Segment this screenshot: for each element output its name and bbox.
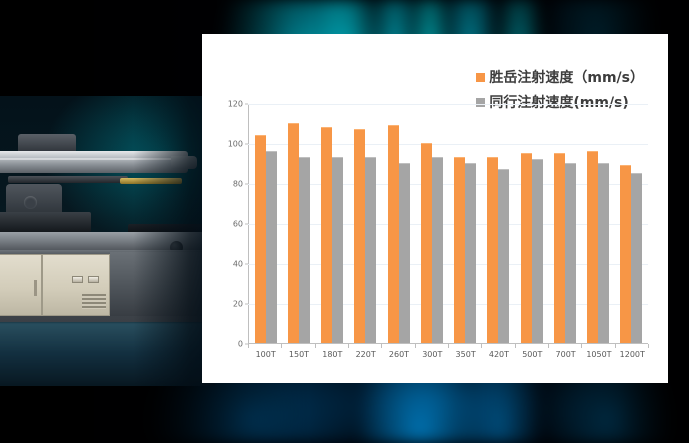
photo-edge-fade [0,96,215,386]
bar-series-1-100T[interactable] [255,135,266,343]
x-tick-mark [415,344,416,348]
legend-item-series-1[interactable]: 胜岳注射速度（mm/s） [476,67,644,87]
bar-series-2-1050T[interactable] [598,163,609,343]
bar-series-1-350T[interactable] [454,157,465,343]
bar-series-2-420T[interactable] [498,169,509,343]
plot-area: 020406080100120 [248,104,648,344]
bar-group [548,104,581,343]
bar-groups [249,104,648,343]
bar-series-2-500T[interactable] [532,159,543,343]
y-tick-label-120: 120 [228,100,243,109]
bar-series-1-1200T[interactable] [620,165,631,343]
x-tick-mark [348,344,349,348]
y-tick-mark-40 [245,264,248,265]
y-tick-label-20: 20 [233,300,243,309]
x-tick-mark [581,344,582,348]
x-tick-mark [315,344,316,348]
bar-series-2-700T[interactable] [565,163,576,343]
x-tick-mark [448,344,449,348]
y-tick-mark-80 [245,184,248,185]
x-axis-label-150T: 150T [282,350,315,359]
bar-series-1-180T[interactable] [321,127,332,343]
bar-group [282,104,315,343]
y-tick-mark-100 [245,144,248,145]
x-axis-label-1050T: 1050T [582,350,615,359]
x-axis-label-500T: 500T [516,350,549,359]
y-tick-label-40: 40 [233,260,243,269]
bar-series-1-700T[interactable] [554,153,565,343]
bar-series-1-150T[interactable] [288,123,299,343]
x-axis-label-100T: 100T [249,350,282,359]
bar-series-2-220T[interactable] [365,157,376,343]
bar-group [415,104,448,343]
y-tick-mark-20 [245,304,248,305]
bar-series-2-100T[interactable] [266,151,277,343]
x-axis-label-300T: 300T [416,350,449,359]
x-axis-label-180T: 180T [316,350,349,359]
x-axis-label-220T: 220T [349,350,382,359]
y-tick-label-0: 0 [238,340,243,349]
bar-series-1-300T[interactable] [421,143,432,343]
bar-series-1-1050T[interactable] [587,151,598,343]
x-axis-labels: 100T150T180T220T260T300T350T420T500T700T… [249,350,649,359]
bar-series-1-260T[interactable] [388,125,399,343]
bar-group [615,104,648,343]
bar-group [582,104,615,343]
y-tick-label-100: 100 [228,140,243,149]
legend-label-series-1: 胜岳注射速度（mm/s） [489,67,644,87]
x-tick-mark [281,344,282,348]
x-tick-mark [615,344,616,348]
y-tick-mark-60 [245,224,248,225]
x-tick-mark [248,344,249,348]
y-tick-label-60: 60 [233,220,243,229]
x-tick-mark [481,344,482,348]
bar-series-2-260T[interactable] [399,163,410,343]
x-axis-label-420T: 420T [482,350,515,359]
x-tick-mark [381,344,382,348]
bar-group [515,104,548,343]
bar-series-1-220T[interactable] [354,129,365,343]
bar-group [449,104,482,343]
bar-series-1-420T[interactable] [487,157,498,343]
bar-series-2-180T[interactable] [332,157,343,343]
bar-group [349,104,382,343]
injection-molding-machine-photo [0,96,215,386]
y-tick-mark-120 [245,104,248,105]
bar-group [316,104,349,343]
x-axis-label-700T: 700T [549,350,582,359]
x-tick-mark [548,344,549,348]
legend-swatch-series-1 [476,73,485,82]
bar-series-2-350T[interactable] [465,163,476,343]
chart-panel: 胜岳注射速度（mm/s） 同行注射速度(mm/s) 02040608010012… [202,34,668,383]
bar-group [382,104,415,343]
bar-series-2-300T[interactable] [432,157,443,343]
y-tick-label-80: 80 [233,180,243,189]
bar-series-2-150T[interactable] [299,157,310,343]
x-axis-label-1200T: 1200T [616,350,649,359]
x-axis-label-350T: 350T [449,350,482,359]
x-tick-mark [648,344,649,348]
bar-series-1-500T[interactable] [521,153,532,343]
bar-series-2-1200T[interactable] [631,173,642,343]
x-axis-label-260T: 260T [382,350,415,359]
bar-group [249,104,282,343]
x-tick-mark [515,344,516,348]
bar-group [482,104,515,343]
